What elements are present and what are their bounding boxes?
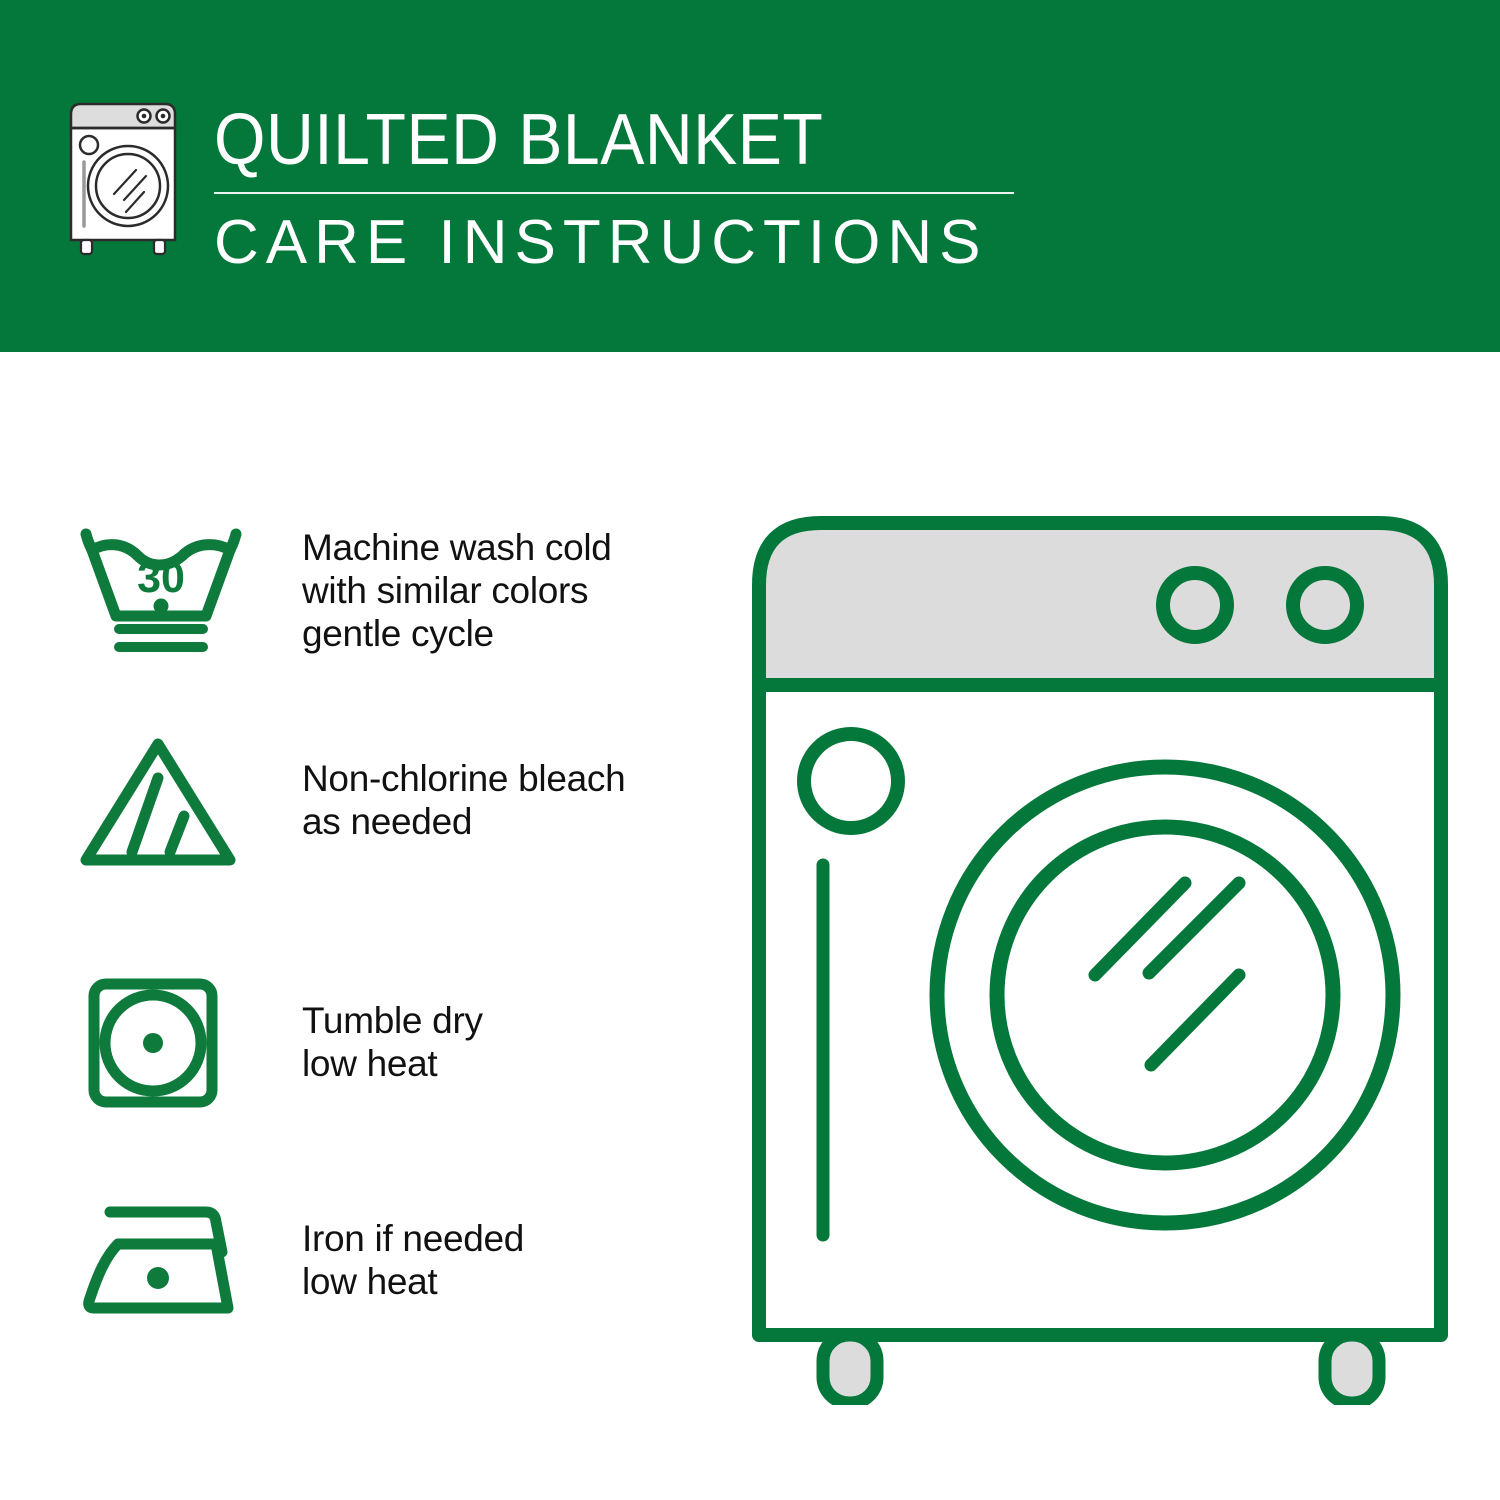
list-item: 30 Machine wash cold with similar colors… [72, 520, 712, 660]
list-item: Iron if needed low heat [72, 1190, 712, 1330]
care-text-line: Non-chlorine bleach [302, 757, 625, 800]
care-text-line: low heat [302, 1042, 483, 1085]
door-streaks [1095, 883, 1239, 1065]
iron-icon [72, 1190, 252, 1330]
tumble-dry-icon [72, 972, 252, 1112]
page-subtitle: CARE INSTRUCTIONS [214, 208, 1014, 278]
wash-tub-30-icon: 30 [72, 520, 252, 660]
care-text-line: low heat [302, 1260, 524, 1303]
list-item-text: Tumble dry low heat [302, 999, 483, 1085]
header-title-group: QUILTED BLANKET CARE INSTRUCTIONS [214, 96, 1014, 278]
header-content: QUILTED BLANKET CARE INSTRUCTIONS [62, 96, 1014, 278]
indicator-light-icon [804, 734, 898, 828]
title-divider [214, 192, 1014, 194]
list-item-text: Non-chlorine bleach as needed [302, 757, 625, 843]
list-item-text: Iron if needed low heat [302, 1217, 524, 1303]
list-item-text: Machine wash cold with similar colors ge… [302, 526, 612, 655]
wash-temperature-label: 30 [137, 554, 185, 602]
header-banner: QUILTED BLANKET CARE INSTRUCTIONS [0, 0, 1500, 352]
control-panel [759, 523, 1441, 685]
washing-machine-illustration [745, 505, 1455, 1405]
leg-right [1325, 1335, 1379, 1403]
care-text-line: Tumble dry [302, 999, 483, 1042]
care-text-line: Iron if needed [302, 1217, 524, 1260]
bleach-triangle-icon [72, 730, 252, 870]
care-instruction-list: 30 Machine wash cold with similar colors… [0, 352, 720, 1500]
list-item: Non-chlorine bleach as needed [72, 730, 712, 870]
page-title: QUILTED BLANKET [214, 100, 950, 180]
care-text-line: gentle cycle [302, 612, 612, 655]
washing-machine-icon [62, 96, 190, 258]
list-item: Tumble dry low heat [72, 972, 712, 1112]
care-text-line: with similar colors [302, 569, 612, 612]
door-outer-ring [937, 767, 1393, 1223]
care-text-line: Machine wash cold [302, 526, 612, 569]
care-text-line: as needed [302, 800, 625, 843]
leg-left [823, 1335, 877, 1403]
door-inner-ring [997, 827, 1333, 1163]
